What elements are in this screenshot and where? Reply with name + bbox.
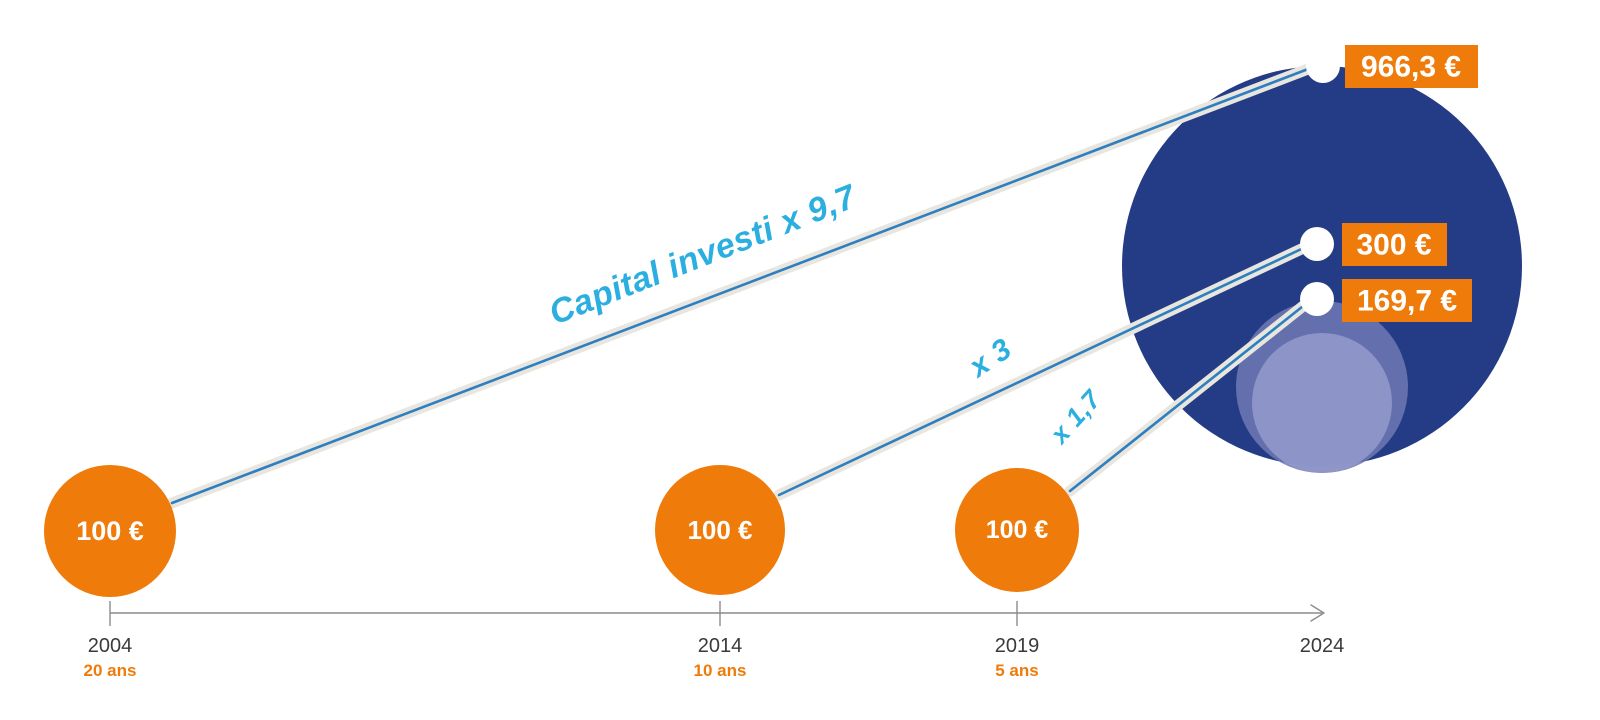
investment-growth-infographic: Capital investi x 9,7 x 3 x 1,7 100 € 10… <box>0 0 1600 720</box>
value-dot-300 <box>1300 227 1334 261</box>
value-dot-966 <box>1306 49 1340 83</box>
axis-year-2019: 2019 <box>995 635 1040 657</box>
growth-annotations: Capital investi x 9,7 x 3 x 1,7 <box>544 177 1108 451</box>
axis-label-group-2024: 2024 <box>1300 635 1345 657</box>
start-bubble-2019: 100 € <box>955 468 1079 592</box>
timeline-axis: 2004 20 ans 2014 10 ans 2019 5 ans 2024 <box>84 601 1345 680</box>
axis-duration-2014: 10 ans <box>694 661 747 680</box>
annotation-x3: x 3 <box>962 332 1018 385</box>
axis-year-2024: 2024 <box>1300 635 1345 657</box>
axis-label-group-2004: 2004 20 ans <box>84 635 137 680</box>
value-marker-300: 300 € <box>1300 223 1447 266</box>
axis-year-2004: 2004 <box>88 635 133 657</box>
start-bubble-2014-label: 100 € <box>687 515 752 545</box>
value-label-169: 169,7 € <box>1357 285 1457 318</box>
end-bubble-group <box>1122 66 1522 473</box>
start-bubble-2004-label: 100 € <box>76 516 144 546</box>
start-bubble-2004: 100 € <box>44 465 176 597</box>
start-bubble-2014: 100 € <box>655 465 785 595</box>
axis-duration-2019: 5 ans <box>995 661 1038 680</box>
axis-year-2014: 2014 <box>698 635 743 657</box>
axis-duration-2004: 20 ans <box>84 661 137 680</box>
end-bubble-169 <box>1252 333 1392 473</box>
start-bubble-group: 100 € 100 € 100 € <box>44 465 1079 597</box>
axis-label-group-2019: 2019 5 ans <box>995 635 1040 680</box>
value-label-966: 966,3 € <box>1361 51 1461 84</box>
start-bubble-2019-label: 100 € <box>986 516 1049 544</box>
axis-label-group-2014: 2014 10 ans <box>694 635 747 680</box>
annotation-x17: x 1,7 <box>1043 383 1108 450</box>
value-label-300: 300 € <box>1356 229 1431 262</box>
value-dot-169 <box>1300 282 1334 316</box>
